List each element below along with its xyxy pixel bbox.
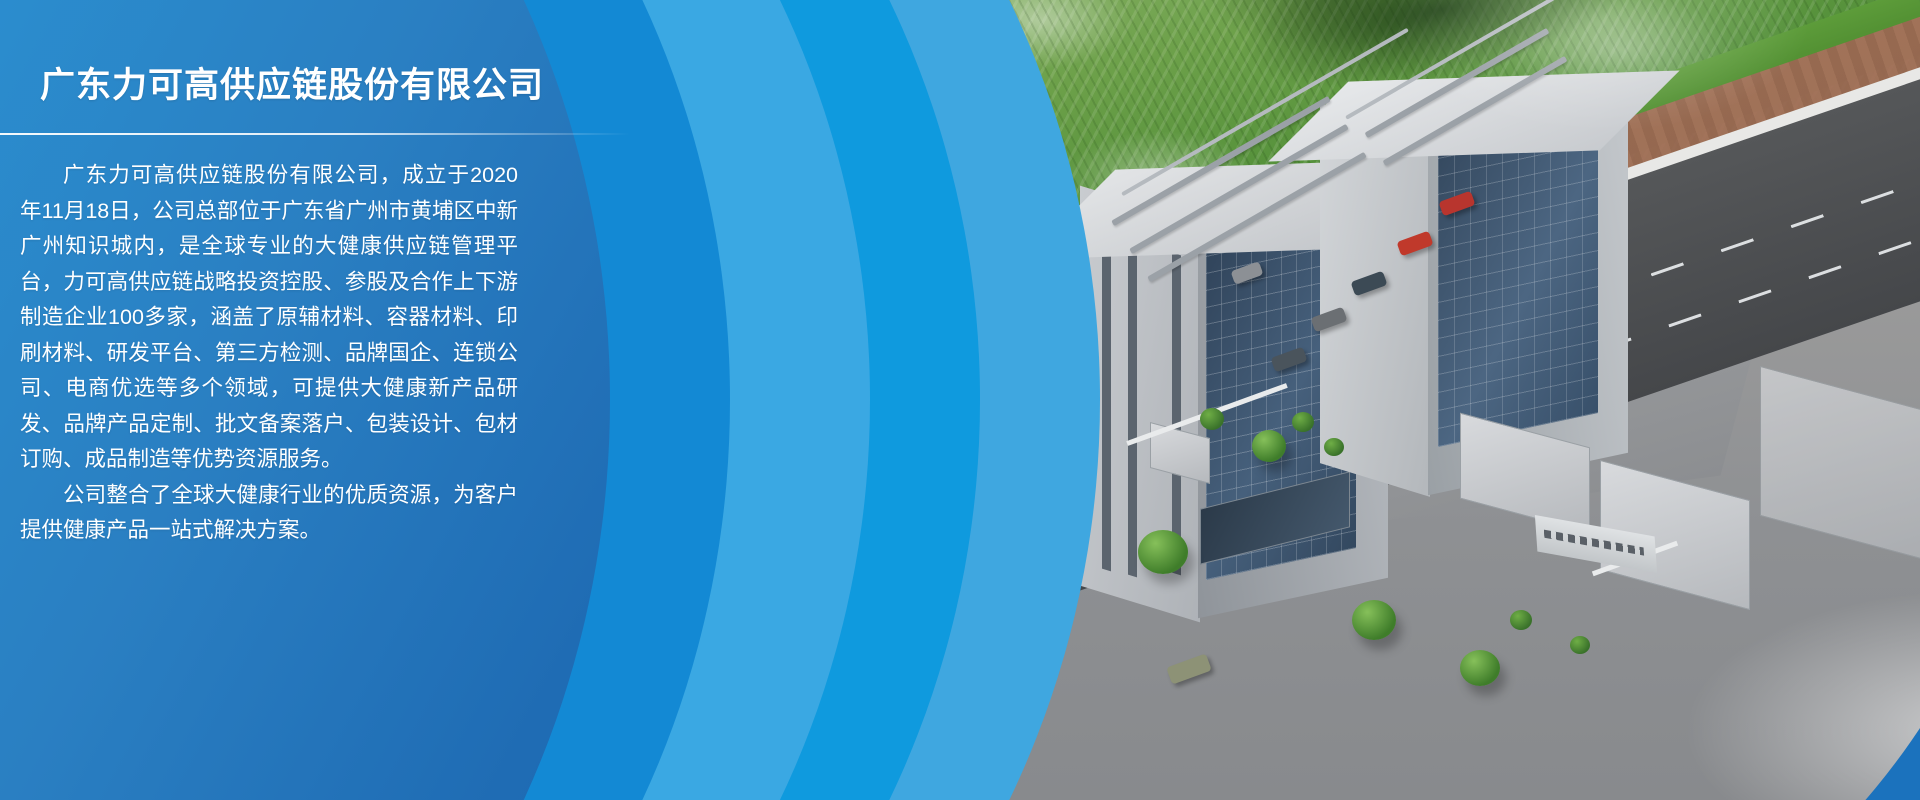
tree xyxy=(1138,530,1188,574)
page-title: 广东力可高供应链股份有限公司 xyxy=(40,57,544,108)
tree xyxy=(1026,480,1078,526)
shrub xyxy=(1570,636,1590,654)
about-paragraph-1: 广东力可高供应链股份有限公司，成立于2020年11月18日，公司总部位于广东省广… xyxy=(20,158,518,478)
title-divider xyxy=(0,133,630,135)
tree xyxy=(1460,650,1500,686)
shrub xyxy=(1200,408,1224,430)
hero-banner: 广东力可高供应链股份有限公司 广东力可高供应链股份有限公司，成立于2020年11… xyxy=(0,0,1920,800)
about-section: 广东力可高供应链股份有限公司 广东力可高供应链股份有限公司，成立于2020年11… xyxy=(0,0,640,800)
facade-strip xyxy=(1128,245,1137,578)
tree xyxy=(1352,600,1396,640)
shrub xyxy=(1324,438,1344,456)
tree xyxy=(1252,430,1286,462)
about-body: 广东力可高供应链股份有限公司，成立于2020年11月18日，公司总部位于广东省广… xyxy=(20,158,518,549)
block-glass-curtain xyxy=(1438,113,1598,447)
facade-strip xyxy=(1102,239,1111,572)
facade-strip xyxy=(1172,253,1181,576)
shrub xyxy=(1292,412,1314,432)
about-paragraph-2: 公司整合了全球大健康行业的优质资源，为客户提供健康产品一站式解决方案。 xyxy=(20,478,518,549)
shrub xyxy=(1510,610,1532,630)
